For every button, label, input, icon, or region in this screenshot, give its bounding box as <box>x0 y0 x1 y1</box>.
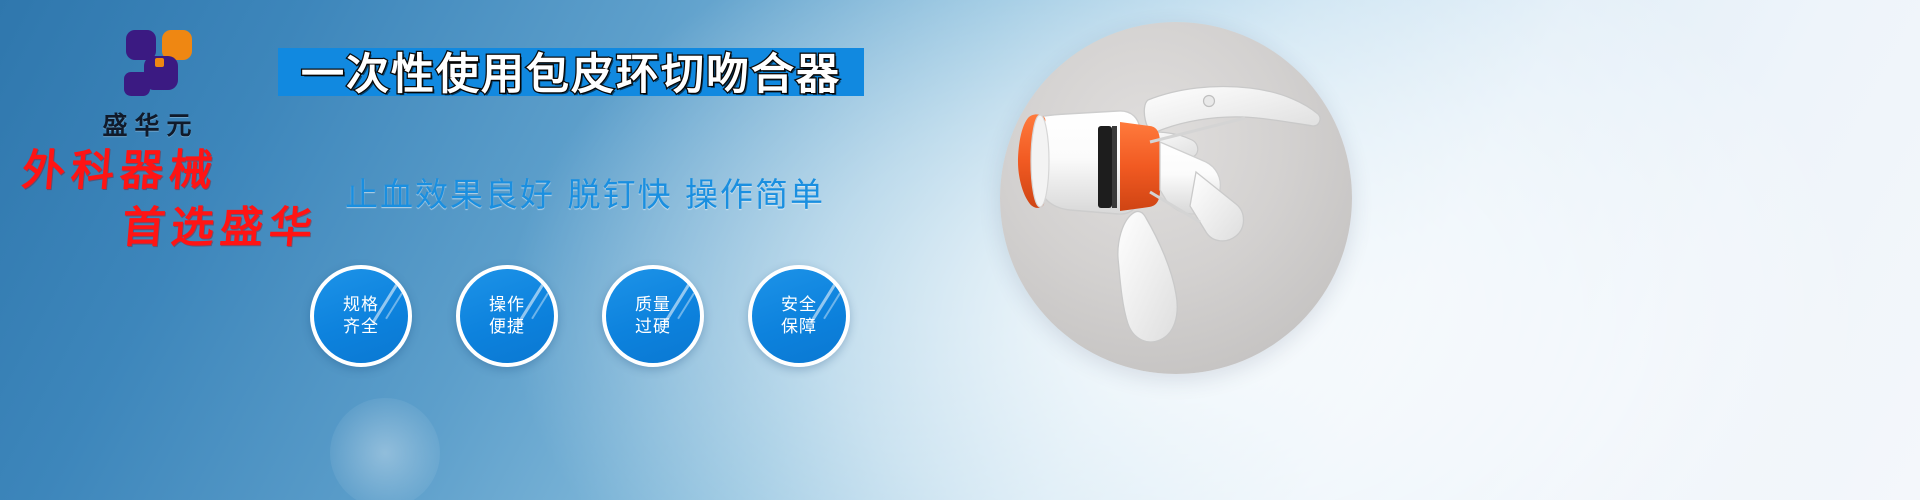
calligraphy-line-2: 首选盛华 <box>20 207 354 250</box>
subtitle-text: 止血效果良好 脱钉快 操作简单 <box>345 168 825 216</box>
badge-line-1: 安全 <box>781 294 817 316</box>
badge-line-2: 保障 <box>781 316 817 338</box>
badge-line-2: 过硬 <box>635 316 671 338</box>
logo-mark-icon <box>110 28 184 100</box>
feature-badge-specs[interactable]: 规格 齐全 <box>310 265 412 367</box>
feature-badge-operation[interactable]: 操作 便捷 <box>456 265 558 367</box>
feature-badge-safety[interactable]: 安全 保障 <box>748 265 850 367</box>
logo-accent-dot <box>155 58 164 67</box>
feature-badge-quality[interactable]: 质量 过硬 <box>602 265 704 367</box>
badge-line-2: 便捷 <box>489 316 525 338</box>
badge-line-2: 齐全 <box>343 316 379 338</box>
brand-logo[interactable]: 盛华元 <box>62 28 232 142</box>
product-backdrop-circle <box>1000 22 1352 374</box>
brand-name: 盛华元 <box>62 106 232 142</box>
promo-banner: 盛华元 一次性使用包皮环切吻合器 外科器械 首选盛华 止血效果良好 脱钉快 操作… <box>0 0 1920 500</box>
badge-line-1: 规格 <box>343 294 379 316</box>
product-image <box>1000 22 1352 374</box>
calligraphy-line-1: 外科器械 <box>20 150 354 193</box>
feature-badge-list: 规格 齐全 操作 便捷 质量 过硬 安全 保障 <box>310 265 850 367</box>
logo-square-bottom-left <box>124 72 150 96</box>
page-title: 一次性使用包皮环切吻合器 <box>278 42 864 100</box>
background-glow <box>330 398 440 500</box>
badge-line-1: 质量 <box>635 294 671 316</box>
badge-line-1: 操作 <box>489 294 525 316</box>
stapler-device-icon <box>1000 22 1352 374</box>
calligraphy-slogan: 外科器械 首选盛华 <box>22 150 352 250</box>
